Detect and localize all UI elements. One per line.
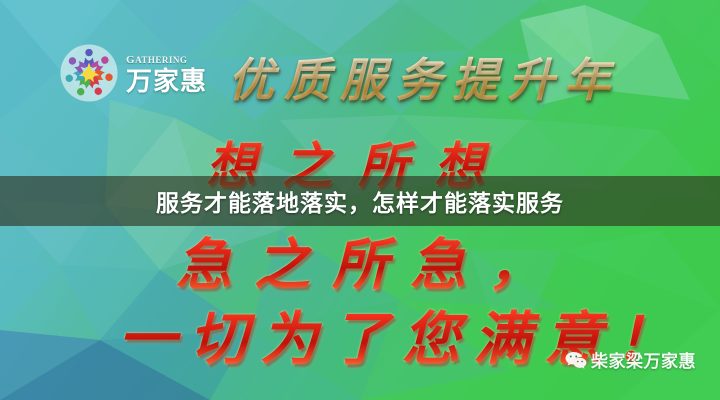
- poster-image: Gathering 万家惠 优质服务提升年 想之所想 急之所急， 一切为了您满意…: [0, 0, 720, 400]
- caption-text: 服务才能落地落实，怎样才能落实服务: [156, 184, 564, 218]
- watermark-text: 柴家梁万家惠: [591, 347, 696, 372]
- brand-logo: Gathering 万家惠: [58, 42, 207, 104]
- brand-wordmark: Gathering 万家惠: [126, 52, 207, 95]
- circle-of-people-logo-icon: [58, 42, 120, 104]
- watermark: 柴家梁万家惠: [565, 347, 696, 372]
- caption-overlay-bar: 服务才能落地落实，怎样才能落实服务: [0, 176, 720, 226]
- brand-english-name: Gathering: [126, 52, 207, 67]
- wechat-icon: [565, 350, 587, 370]
- slogan-line-2: 急之所急，: [176, 220, 566, 301]
- headline-gold-title: 优质服务提升年: [228, 44, 620, 110]
- brand-chinese-name: 万家惠: [126, 69, 207, 95]
